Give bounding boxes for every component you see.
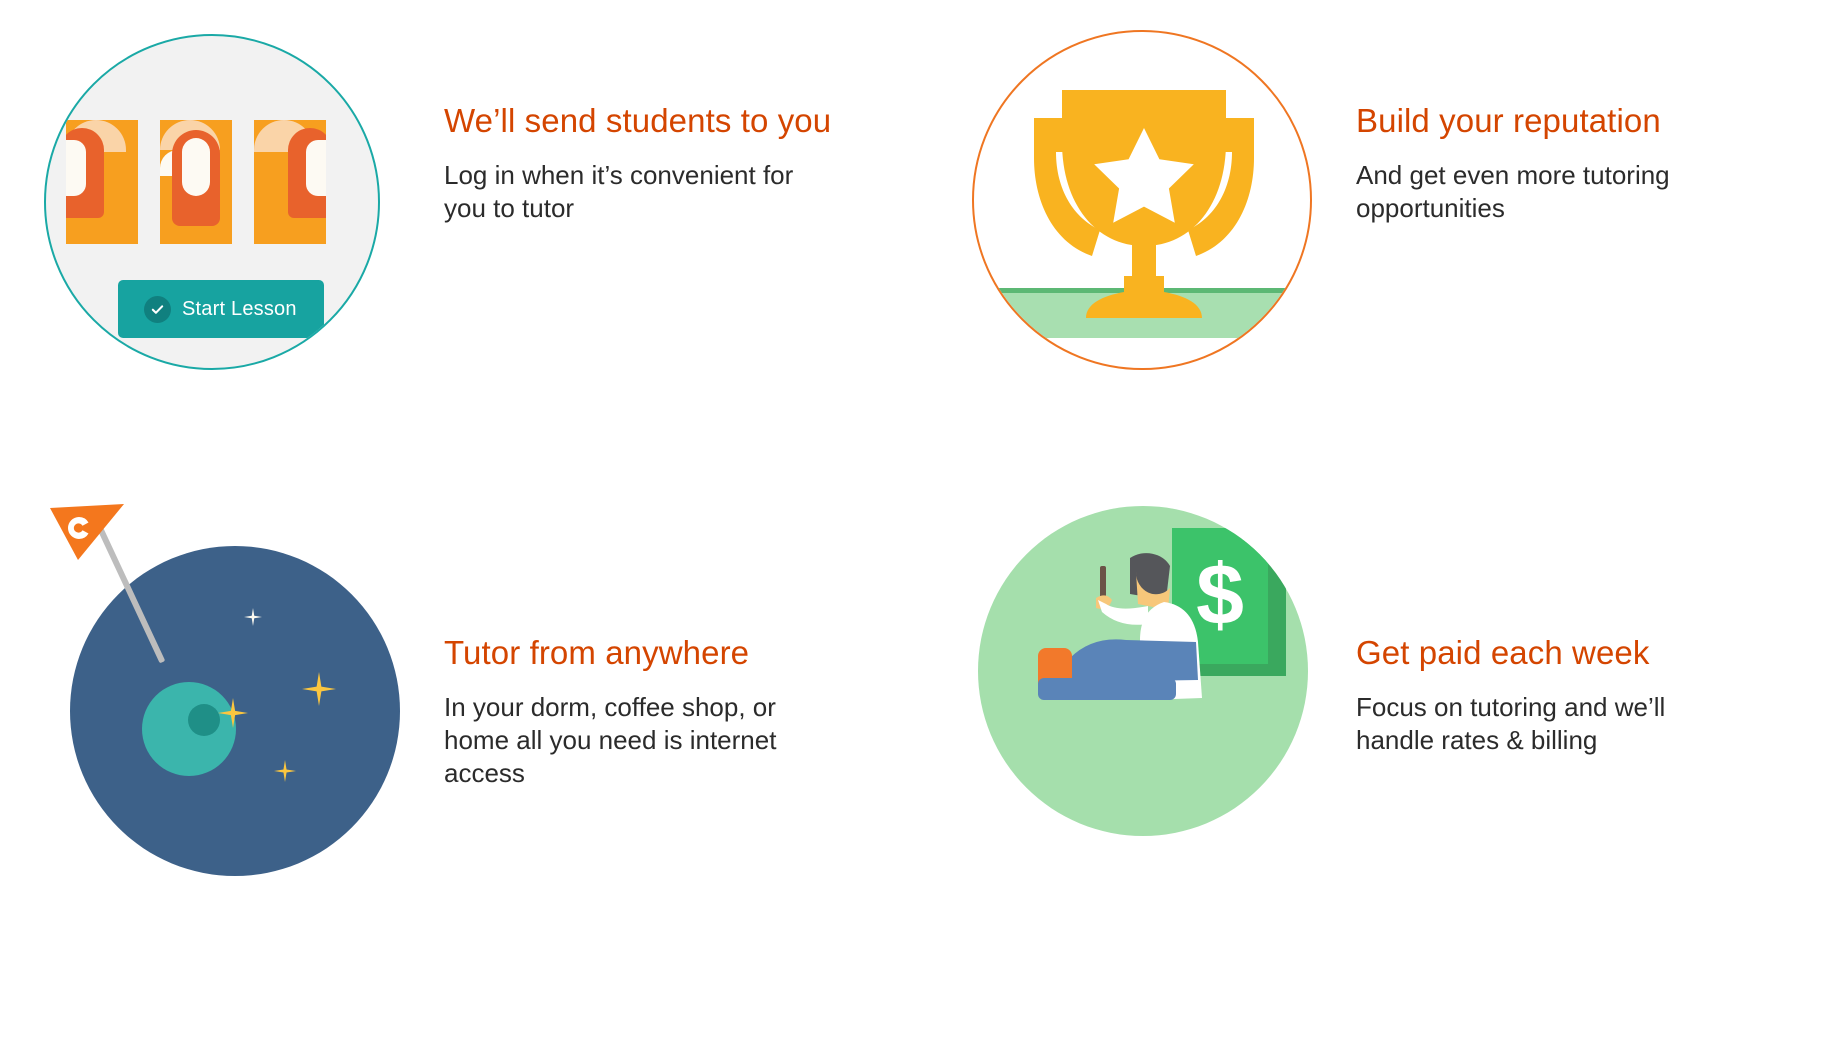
illustration-circle bbox=[972, 30, 1312, 370]
body-line: Focus on tutoring and we’ll bbox=[1356, 691, 1665, 724]
body-line: handle rates & billing bbox=[1356, 724, 1665, 757]
body-line: home all you need is internet bbox=[444, 724, 776, 757]
crater-dot bbox=[188, 704, 220, 736]
sparkle-icon bbox=[244, 608, 262, 626]
chegg-flag-icon bbox=[48, 504, 126, 566]
illustration-circle: Start Lesson bbox=[44, 34, 380, 370]
students-start-lesson-illustration: Start Lesson bbox=[42, 18, 432, 408]
feature-body: And get even more tutoring opportunities bbox=[1356, 159, 1670, 226]
sparkle-icon bbox=[218, 698, 248, 728]
feature-headline: Tutor from anywhere bbox=[444, 634, 776, 672]
body-line: In your dorm, coffee shop, or bbox=[444, 691, 776, 724]
feature-card-send-students: Start Lesson We’ll send students to you … bbox=[0, 18, 912, 488]
feature-copy: Build your reputation And get even more … bbox=[1356, 18, 1670, 225]
sparkle-icon bbox=[274, 760, 296, 782]
feature-copy: Get paid each week Focus on tutoring and… bbox=[1356, 488, 1665, 757]
feature-headline: We’ll send students to you bbox=[444, 102, 831, 140]
feature-card-tutor-anywhere: Tutor from anywhere In your dorm, coffee… bbox=[0, 488, 912, 958]
money-person-illustration: $ bbox=[954, 488, 1344, 878]
illustration-circle: $ bbox=[978, 506, 1308, 836]
student-thumbnails bbox=[46, 120, 378, 244]
feature-card-get-paid: $ Get paid each week bbox=[912, 488, 1824, 958]
start-lesson-label: Start Lesson bbox=[182, 298, 297, 321]
phone-shape bbox=[1100, 566, 1106, 600]
body-line: And get even more tutoring bbox=[1356, 159, 1670, 192]
planet-circle bbox=[70, 546, 400, 876]
feature-headline: Get paid each week bbox=[1356, 634, 1665, 672]
body-line: opportunities bbox=[1356, 192, 1670, 225]
dollar-symbol: $ bbox=[1196, 547, 1244, 643]
student-avatar bbox=[160, 120, 232, 244]
feature-body: In your dorm, coffee shop, or home all y… bbox=[444, 691, 776, 791]
body-line: access bbox=[444, 757, 776, 790]
trophy-icon bbox=[974, 32, 1312, 370]
trophy-illustration bbox=[954, 18, 1344, 408]
features-grid: Start Lesson We’ll send students to you … bbox=[0, 0, 1824, 1046]
body-line: you to tutor bbox=[444, 192, 831, 225]
student-avatar bbox=[254, 120, 326, 244]
feature-copy: We’ll send students to you Log in when i… bbox=[444, 18, 831, 225]
feature-copy: Tutor from anywhere In your dorm, coffee… bbox=[444, 488, 776, 791]
student-avatar bbox=[66, 120, 138, 244]
start-lesson-button[interactable]: Start Lesson bbox=[118, 280, 324, 338]
planet-flag-illustration bbox=[42, 488, 432, 878]
body-line: Log in when it’s convenient for bbox=[444, 159, 831, 192]
legs-shape bbox=[1070, 639, 1198, 682]
sparkle-icon bbox=[302, 672, 336, 706]
feature-card-build-reputation: Build your reputation And get even more … bbox=[912, 18, 1824, 488]
money-scene: $ bbox=[978, 506, 1308, 836]
check-circle-icon bbox=[144, 296, 171, 323]
feature-body: Log in when it’s convenient for you to t… bbox=[444, 159, 831, 226]
feature-body: Focus on tutoring and we’ll handle rates… bbox=[1356, 691, 1665, 758]
feature-headline: Build your reputation bbox=[1356, 102, 1670, 140]
crater-shape bbox=[142, 682, 236, 776]
